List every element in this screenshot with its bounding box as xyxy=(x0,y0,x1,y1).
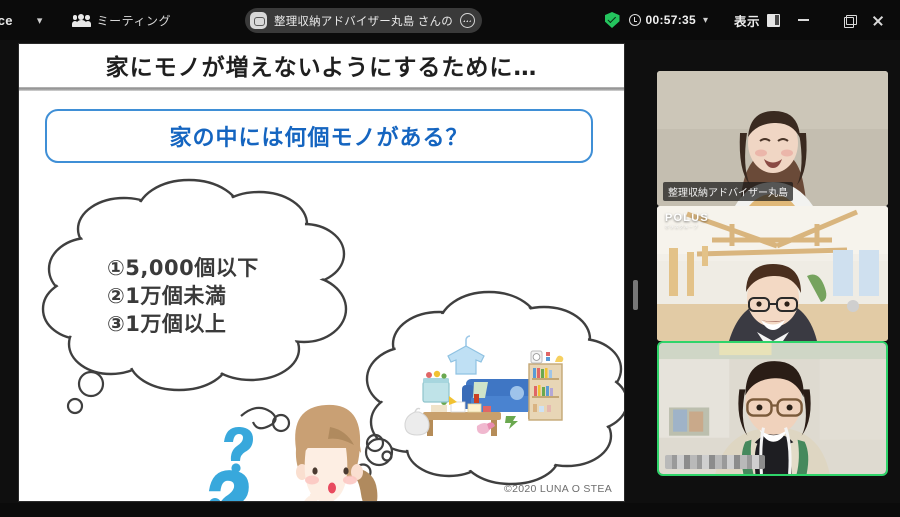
panel-resize-handle[interactable] xyxy=(633,280,638,310)
shared-slide[interactable]: 家にモノが増えないようにするために… 家の中には何個モノがある？ xyxy=(18,43,625,502)
video-tile-3[interactable] xyxy=(657,341,888,476)
minimize-button[interactable] xyxy=(780,0,826,40)
answer-option-1: ①5,000個以下 xyxy=(107,255,259,283)
presentation-icon xyxy=(250,12,267,29)
restore-button[interactable] xyxy=(826,0,872,40)
answer-option-2: ②1万個未満 xyxy=(107,283,259,311)
presenting-label: 整理収納アドバイザー丸島 さんの xyxy=(274,13,453,29)
close-button[interactable] xyxy=(872,0,900,40)
participant-name-3 xyxy=(665,455,765,469)
clock-icon xyxy=(629,14,641,26)
titlebar-left: ice ▾ ミーティング xyxy=(0,0,171,40)
answer-option-3: ③1万個以上 xyxy=(107,311,259,339)
meeting-label: ミーティング xyxy=(97,12,171,29)
timer-chevron-down-icon[interactable]: ▾ xyxy=(703,15,708,26)
people-icon xyxy=(73,14,90,27)
titlebar-right: 00:57:35 ▾ 表示 xyxy=(605,0,900,40)
chevron-down-icon[interactable]: ▾ xyxy=(33,14,47,27)
thought-tail-left xyxy=(68,372,103,413)
meeting-timer: 00:57:35 xyxy=(646,13,696,27)
view-label: 表示 xyxy=(734,11,760,30)
answer-options: ①5,000個以下 ②1万個未満 ③1万個以上 xyxy=(107,255,259,339)
question-mark-icon xyxy=(209,427,253,502)
shield-check-icon xyxy=(605,12,620,28)
presenting-pill[interactable]: 整理収納アドバイザー丸島 さんの xyxy=(245,8,482,33)
video-tile-2[interactable]: POLUS ポラスグループ xyxy=(657,206,888,341)
thinking-woman-illustration xyxy=(282,405,378,502)
view-button[interactable]: 表示 xyxy=(734,11,780,30)
virtual-background-logo: POLUS ポラスグループ xyxy=(665,212,709,230)
meeting-nav-item[interactable]: ミーティング xyxy=(73,12,171,29)
copyright-text: ©2020 LUNA O STEA xyxy=(504,483,612,495)
titlebar: ice ▾ ミーティング 整理収納アドバイザー丸島 さんの 00:57:35 ▾… xyxy=(0,0,900,40)
video-tile-1[interactable]: 整理収納アドバイザー丸島 xyxy=(657,71,888,206)
app-name: ice xyxy=(0,13,17,28)
virtual-background-sublogo: ポラスグループ xyxy=(665,224,709,230)
participant-name-1: 整理収納アドバイザー丸島 xyxy=(663,182,793,201)
window-bottom-strip xyxy=(0,503,900,517)
more-options-icon[interactable] xyxy=(460,13,475,28)
meeting-window: ice ▾ ミーティング 整理収納アドバイザー丸島 さんの 00:57:35 ▾… xyxy=(0,0,900,517)
participants-panel: 整理収納アドバイザー丸島 xyxy=(640,43,900,503)
layout-icon xyxy=(767,14,780,27)
